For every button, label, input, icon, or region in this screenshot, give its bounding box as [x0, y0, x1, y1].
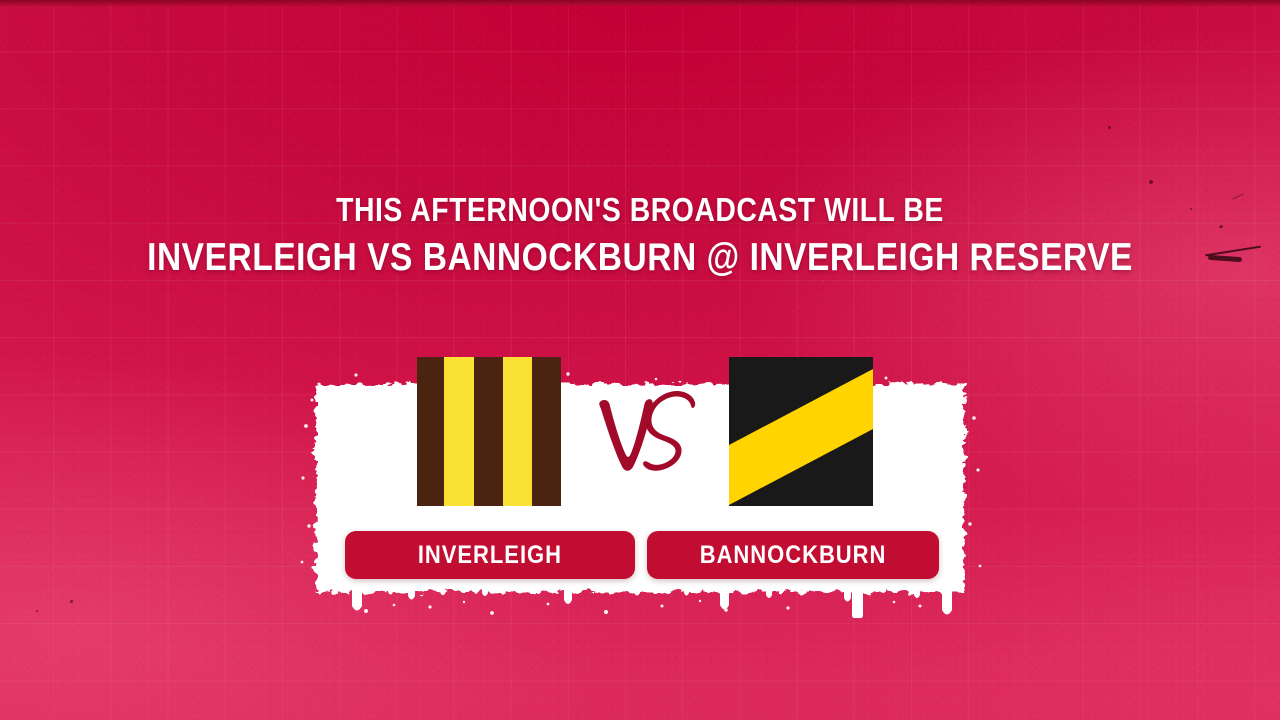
versus-glyph: [592, 386, 700, 482]
versus-mark: [592, 386, 700, 482]
background-top-shadow-strip: [0, 0, 1280, 7]
broadcast-graphic: THIS AFTERNOON'S BROADCAST WILL BE INVER…: [0, 0, 1280, 720]
home-team-crest: [417, 357, 561, 506]
crest-stripe: [474, 357, 503, 506]
headline-line-2: INVERLEIGH VS BANNOCKBURN @ INVERLEIGH R…: [90, 234, 1191, 282]
home-team-name-label: INVERLEIGH: [418, 541, 562, 570]
home-team-name-pill[interactable]: INVERLEIGH: [345, 531, 635, 579]
away-crest-graphic: [729, 357, 873, 506]
crest-stripe: [503, 357, 533, 506]
away-team-crest: [729, 357, 873, 506]
crest-stripe: [417, 357, 444, 506]
away-team-name-pill[interactable]: BANNOCKBURN: [647, 531, 939, 579]
crest-stripe: [532, 357, 561, 506]
broadcast-headline: THIS AFTERNOON'S BROADCAST WILL BE INVER…: [90, 186, 1191, 282]
crest-stripe: [444, 357, 474, 506]
away-team-name-label: BANNOCKBURN: [700, 541, 887, 570]
headline-line-1: THIS AFTERNOON'S BROADCAST WILL BE: [90, 186, 1191, 234]
